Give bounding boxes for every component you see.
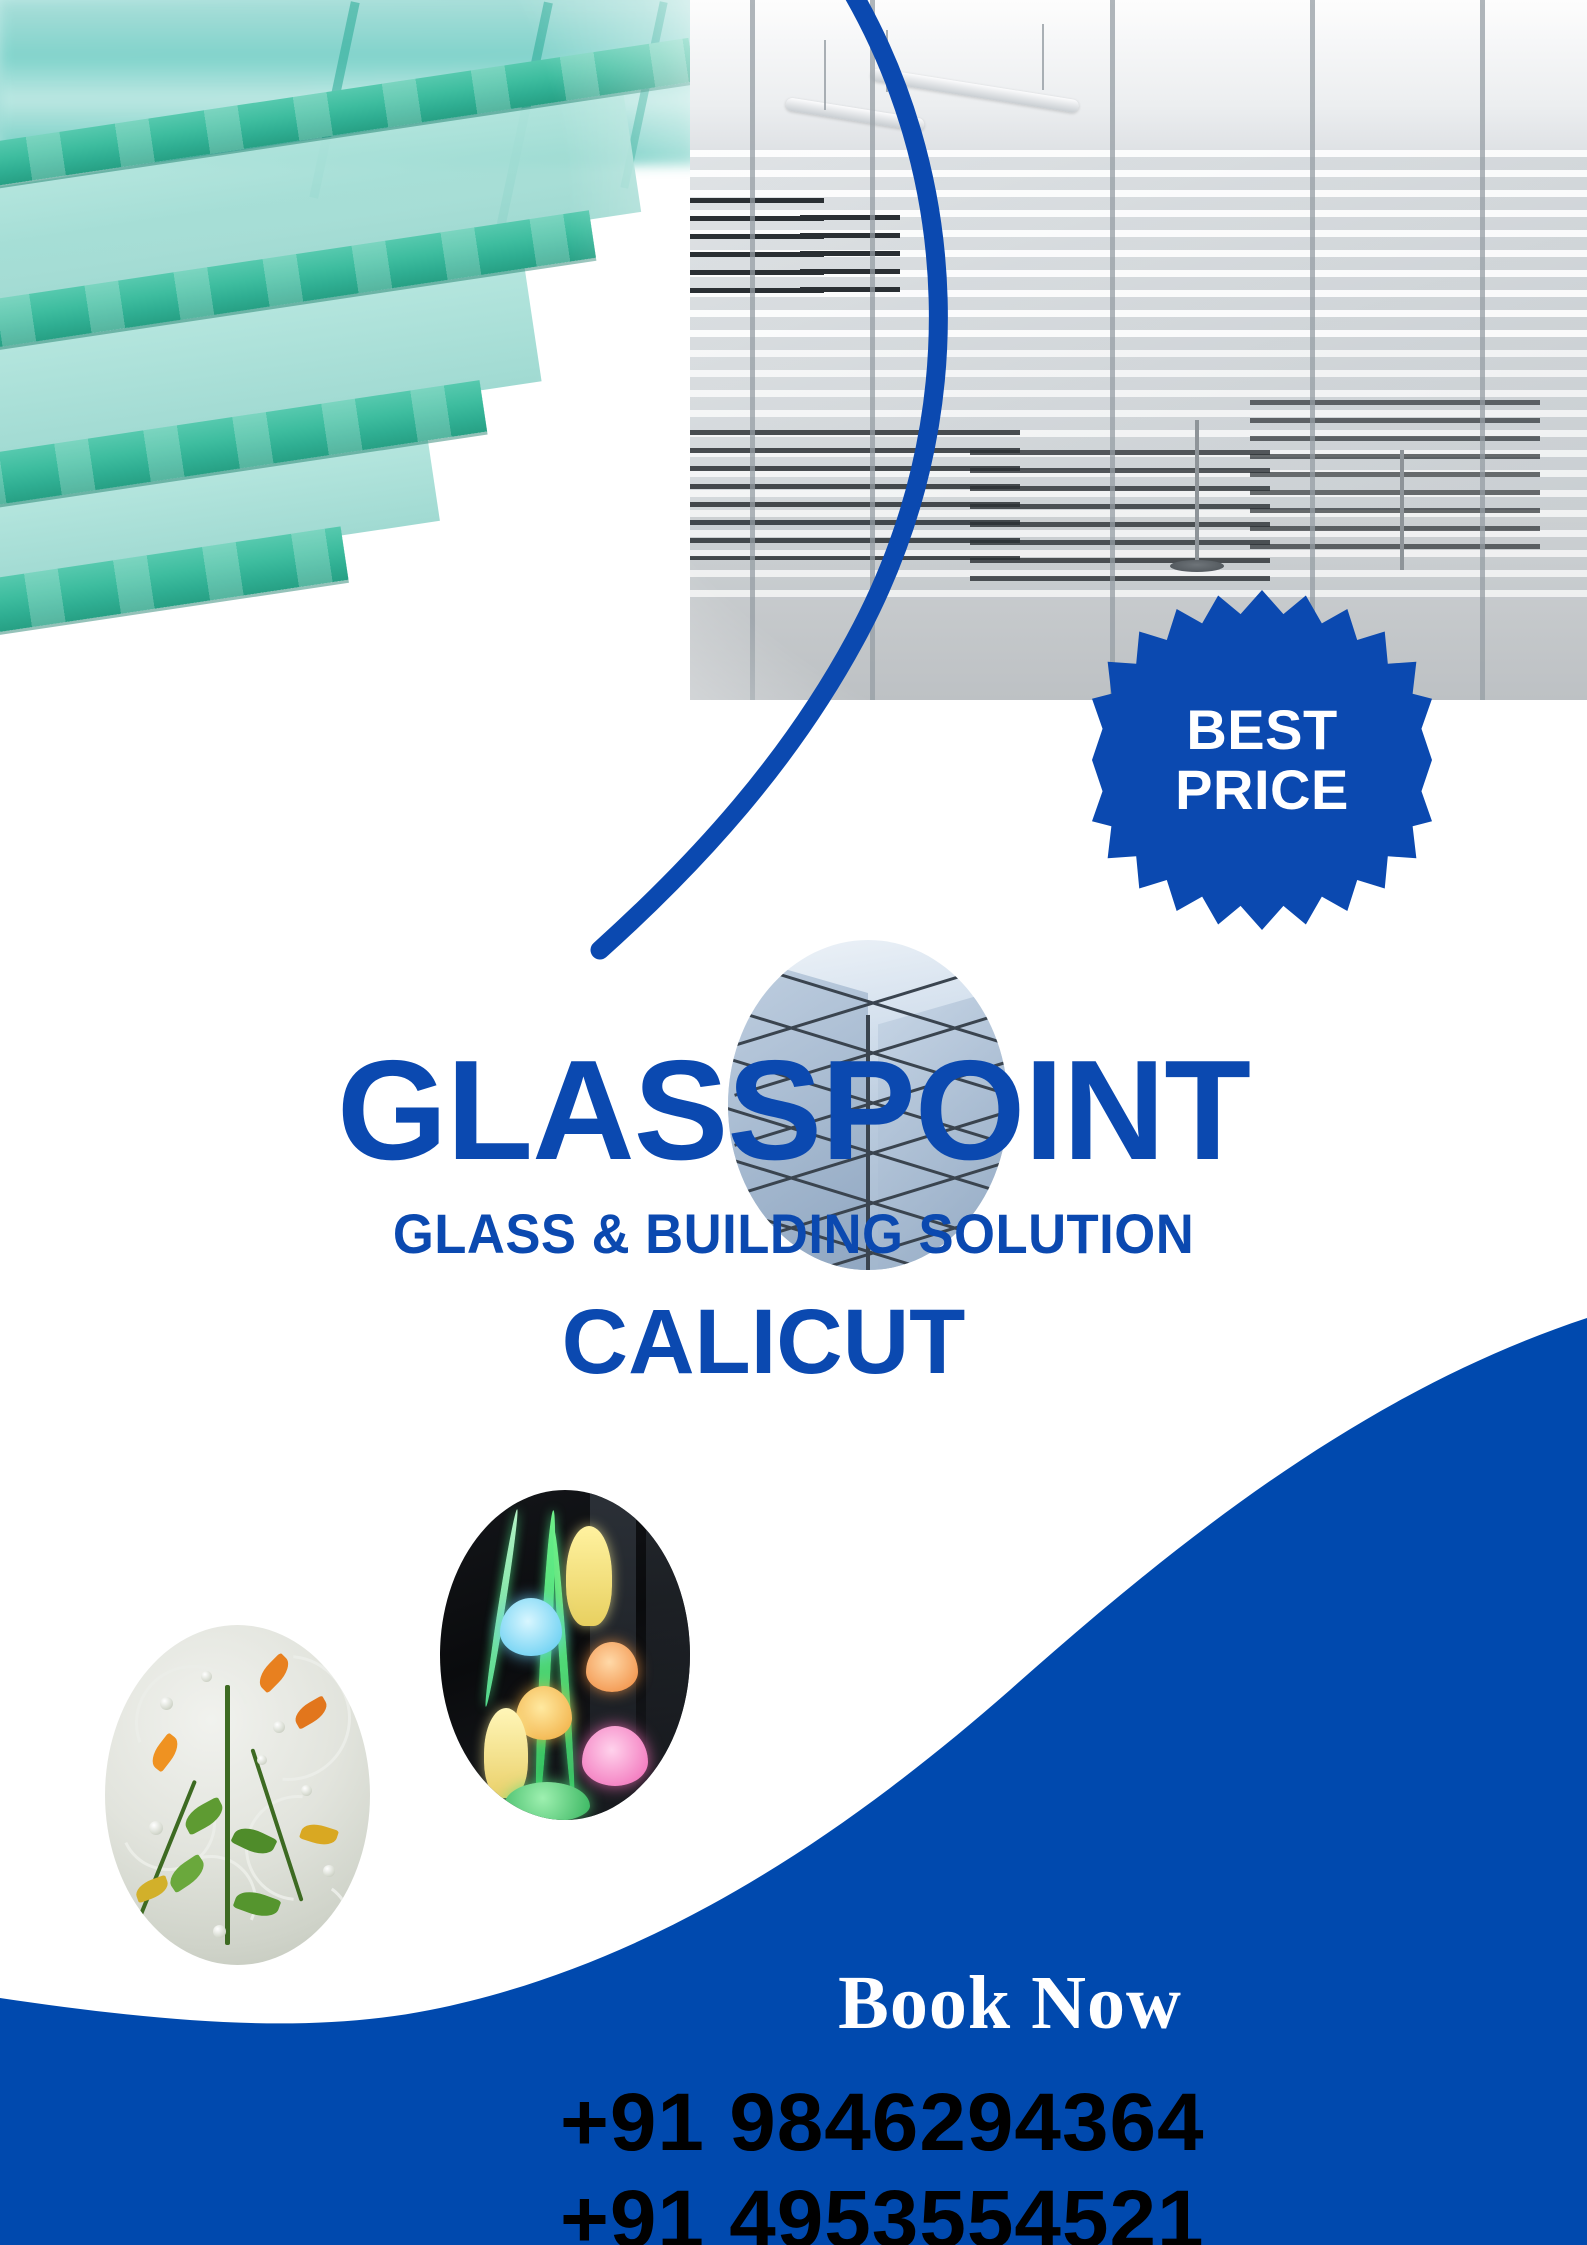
best-price-badge[interactable]: BEST PRICE [1092, 590, 1432, 930]
phone-list: +91 9846294364 +91 4953554521 [560, 2075, 1587, 2245]
brand-city: CALICUT [0, 1296, 1557, 1388]
brand-block: GLASSPOINT GLASS & BUILDING SOLUTION CAL… [0, 1040, 1587, 1388]
phone-number-1[interactable]: +91 9846294364 [560, 2075, 1587, 2172]
badge-line-2: PRICE [1175, 762, 1349, 818]
thumbnail-etched-floral-glass [105, 1625, 370, 1965]
thumbnail-neon-stained-glass [440, 1490, 690, 1820]
glass-stack-photo [0, 0, 700, 700]
book-now-label: Book Now [690, 1965, 1330, 2041]
badge-line-1: BEST [1186, 702, 1337, 758]
phone-number-2[interactable]: +91 4953554521 [560, 2172, 1587, 2245]
poster-canvas: BEST PRICE [0, 0, 1587, 2245]
brand-name: GLASSPOINT [0, 1040, 1587, 1182]
best-price-badge-text: BEST PRICE [1092, 590, 1432, 930]
brand-tagline: GLASS & BUILDING SOLUTION [48, 1206, 1540, 1262]
